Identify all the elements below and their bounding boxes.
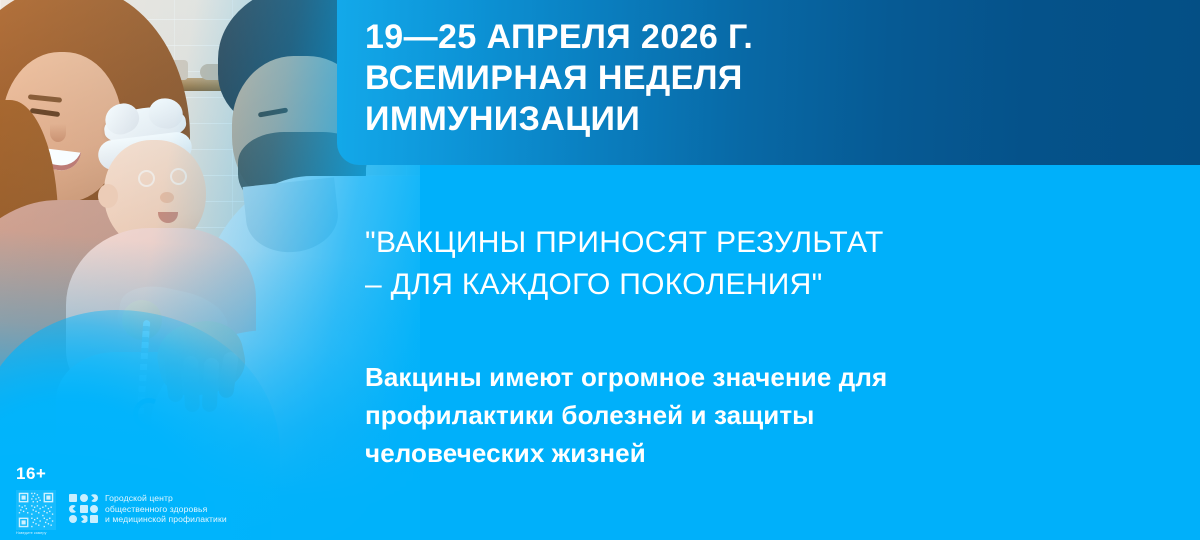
logo-cell	[90, 515, 98, 523]
page-title: 19—25 АПРЕЛЯ 2026 Г. ВСЕМИРНАЯ НЕДЕЛЯ ИМ…	[365, 17, 1200, 140]
organization-logo: Городской центр общественного здоровья и…	[69, 490, 227, 525]
logo-cell	[80, 494, 88, 502]
logo-cell	[69, 505, 77, 513]
age-rating-badge: 16+	[16, 464, 46, 484]
logo-cell	[69, 515, 77, 523]
immunization-week-poster: 19—25 АПРЕЛЯ 2026 Г. ВСЕМИРНАЯ НЕДЕЛЯ ИМ…	[0, 0, 1200, 540]
logo-cell	[69, 494, 77, 502]
logo-grid-icon	[69, 494, 98, 523]
footer: Наведите камеру Городской центр обществе…	[16, 490, 227, 536]
logo-cell	[80, 515, 88, 523]
header-panel: 19—25 АПРЕЛЯ 2026 Г. ВСЕМИРНАЯ НЕДЕЛЯ ИМ…	[337, 0, 1200, 165]
logo-cell	[90, 494, 98, 502]
qr-block[interactable]: Наведите камеру	[16, 490, 58, 536]
organization-name: Городской центр общественного здоровья и…	[105, 493, 227, 525]
logo-cell	[90, 505, 98, 513]
qr-caption: Наведите камеру	[16, 531, 58, 536]
body-paragraph: Вакцины имеют огромное значение для проф…	[365, 358, 925, 472]
campaign-slogan: "ВАКЦИНЫ ПРИНОСЯТ РЕЗУЛЬТАТ – ДЛЯ КАЖДОГ…	[365, 222, 1125, 306]
qr-code-icon[interactable]	[16, 490, 56, 530]
logo-cell	[80, 505, 88, 513]
